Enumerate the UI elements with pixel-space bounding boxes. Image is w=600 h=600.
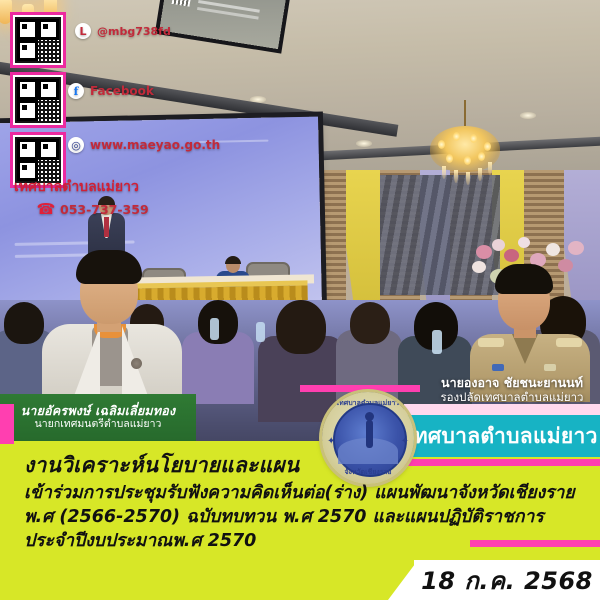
contact-website-label: www.maeyao.go.th [90, 138, 220, 152]
chandelier [420, 118, 510, 198]
seal-bottom-text: จังหวัดเชียงราย [322, 467, 414, 478]
contact-facebook[interactable]: f Facebook [68, 83, 154, 99]
seal-star-right: ✦ [401, 436, 409, 447]
contact-website[interactable]: ◎ www.maeyao.go.th [68, 137, 220, 153]
contact-line-label: @mbg738fd [97, 25, 171, 38]
headline: งานวิเคราะห์นโยบายและแผน [24, 449, 324, 482]
date-label: 18 ก.ค. 2568 [421, 561, 593, 600]
date-banner: 18 ก.ค. 2568 [414, 560, 600, 600]
phone-icon: ☎ [38, 201, 54, 217]
contact-facebook-label: Facebook [90, 84, 154, 98]
body-text: เข้าร่วมการประชุมรับฟังความคิดเห็นต่อ(ร่… [24, 481, 582, 553]
water-bottle [256, 322, 265, 342]
organization-banner-label: เทศบาลตำบลแม่ยาว [406, 420, 597, 453]
water-bottle [210, 318, 219, 340]
pink-stripe [0, 404, 14, 444]
person-left-title: นายกเทศมนตรีตำบลแม่ยาว [35, 418, 162, 431]
qr-code-line[interactable] [10, 12, 66, 68]
facebook-icon: f [68, 83, 84, 99]
seal-star-left: ✦ [327, 436, 335, 447]
poster-canvas: L @mbg738fd f Facebook ◎ www.maeyao.go.t… [0, 0, 600, 600]
contact-org-label: เทศบาลตำบลแม่ยาว [14, 176, 139, 198]
contact-phone[interactable]: ☎ 053-737-359 [38, 201, 149, 217]
ceiling-light [520, 112, 536, 119]
contact-phone-label: 053-737-359 [60, 202, 149, 217]
contact-org: เทศบาลตำบลแม่ยาว [14, 176, 139, 198]
contact-line[interactable]: L @mbg738fd [75, 23, 171, 39]
globe-icon: ◎ [68, 137, 84, 153]
water-bottle [432, 330, 442, 354]
pink-stripe [300, 385, 420, 392]
person-left-caption: นายอัครพงษ์ เฉลิมเลี่ยมทอง นายกเทศมนตรีต… [0, 394, 196, 441]
ceiling-light [356, 140, 372, 147]
organization-banner: เทศบาลตำบลแม่ยาว [404, 415, 600, 457]
person-left-name: นายอัครพงษ์ เฉลิมเลี่ยมทอง [21, 404, 176, 418]
pink-stripe [392, 459, 600, 466]
line-icon: L [75, 23, 91, 39]
qr-code-facebook[interactable] [10, 72, 66, 128]
person-right-name: นายองอาจ ชัยชนะยานนท์ [441, 375, 583, 390]
person-right-title: รองปลัดเทศบาลตำบลแม่ยาว [440, 390, 583, 404]
municipality-seal: เทศบาลตำบลแม่ยาว ✦ ✦ จังหวัดเชียงราย [322, 392, 414, 484]
